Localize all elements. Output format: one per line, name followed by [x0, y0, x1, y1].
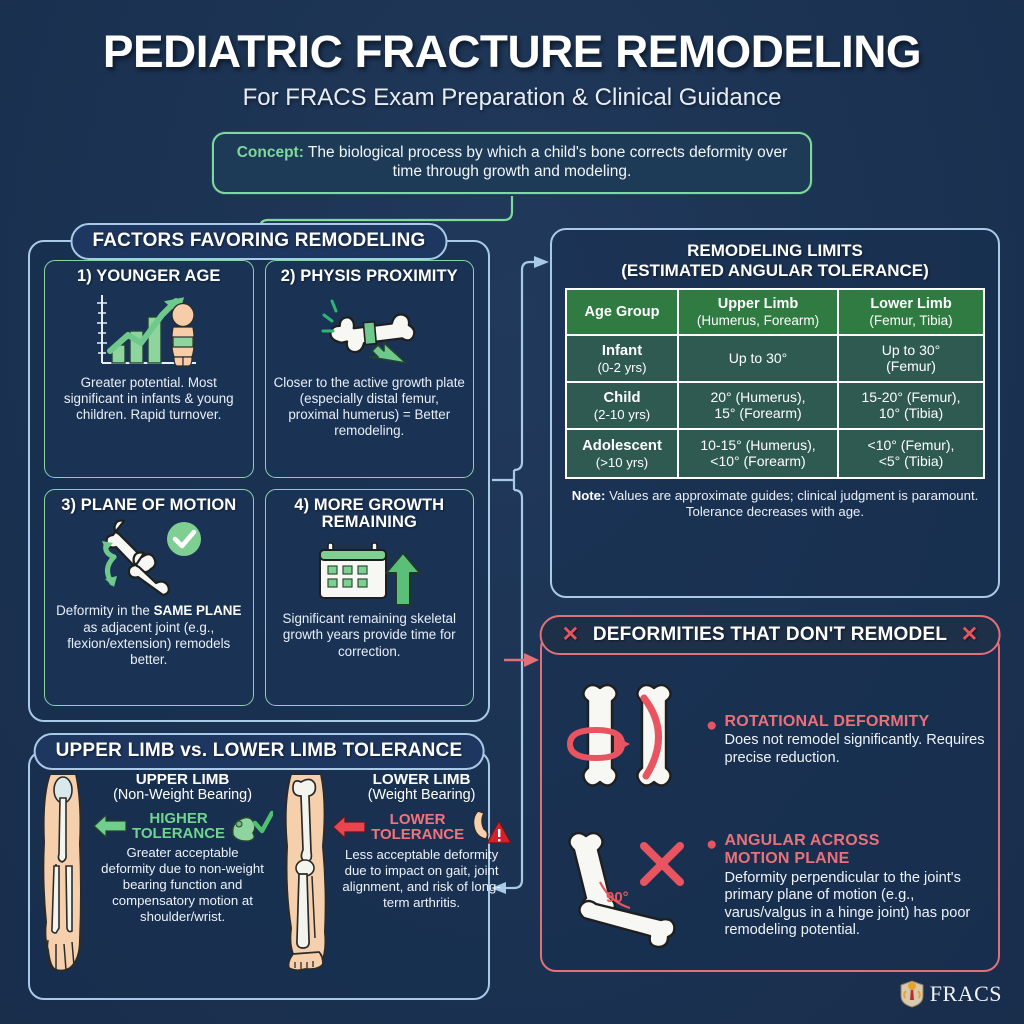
- limb-title-upper: UPPER LIMB (Non-Weight Bearing): [113, 772, 252, 803]
- rotating-bone-icon: [556, 676, 696, 804]
- cell-upper-limb: Up to 30°: [679, 336, 839, 383]
- cell-upper-limb: 10-15° (Humerus),<10° (Forearm): [679, 430, 839, 477]
- factor-card-younger-age[interactable]: 1) YOUNGER AGE: [44, 260, 254, 478]
- concept-label: Concept:: [237, 144, 304, 161]
- page-subtitle: For FRACS Exam Preparation & Clinical Gu…: [0, 84, 1024, 112]
- factors-grid: 1) YOUNGER AGE: [44, 260, 474, 706]
- bullet-icon: ●: [706, 716, 717, 768]
- factor-card-body: Significant remaining skeletal growth ye…: [274, 611, 466, 660]
- concept-body: The biological process by which a child'…: [304, 144, 787, 180]
- fracs-logo-text: FRACS: [930, 981, 1002, 1007]
- flexed-arm-check-icon: [229, 809, 273, 843]
- angulated-bone-90-icon: 90°: [556, 822, 696, 950]
- close-icon: ✕: [961, 623, 979, 646]
- table-header-row: Age Group Upper Limb (Humerus, Forearm) …: [567, 290, 983, 336]
- no-remodel-heading: ✕ DEFORMITIES THAT DON'T REMODEL ✕: [540, 615, 1001, 655]
- table-row: Infant (0-2 yrs) Up to 30° Up to 30°(Fem…: [567, 336, 983, 383]
- no-remodel-item-angular[interactable]: 90° ● ANGULAR ACROSS MOTION PLANE Deform…: [556, 822, 988, 950]
- factor-card-plane-of-motion[interactable]: 3) PLANE OF MOTION Deformity in the S: [44, 489, 254, 707]
- close-icon: ✕: [562, 623, 580, 646]
- factor-card-body: Deformity in the SAME PLANE as adjacent …: [53, 603, 245, 668]
- limb-body-lower: Less acceptable deformity due to impact …: [331, 847, 512, 910]
- factor-card-physis-proximity[interactable]: 2) PHYSIS PROXIMITY: [265, 260, 475, 478]
- no-remodel-text: ● ANGULAR ACROSS MOTION PLANE Deformity …: [706, 832, 988, 940]
- remodeling-limits-table: Age Group Upper Limb (Humerus, Forearm) …: [565, 288, 985, 479]
- cell-age-group: Child (2-10 yrs): [567, 383, 679, 430]
- th-upper-limb: Upper Limb (Humerus, Forearm): [679, 290, 839, 336]
- cell-lower-limb: 15-20° (Femur),10° (Tibia): [839, 383, 983, 430]
- concept-text: Concept: The biological process by which…: [230, 144, 794, 182]
- table-row: Child (2-10 yrs) 20° (Humerus),15° (Fore…: [567, 383, 983, 430]
- no-remodel-body: Does not remodel significantly. Requires…: [724, 732, 988, 767]
- factor-card-title: 1) YOUNGER AGE: [77, 268, 221, 286]
- limb-tolerance-grid: UPPER LIMB (Non-Weight Bearing) HIGHER T…: [40, 772, 478, 988]
- th-lower-limb: Lower Limb (Femur, Tibia): [839, 290, 983, 336]
- factors-panel: FACTORS FAVORING REMODELING 1) YOUNGER A…: [28, 240, 490, 722]
- cell-upper-limb: 20° (Humerus),15° (Forearm): [679, 383, 839, 430]
- limits-title: REMODELING LIMITS (ESTIMATED ANGULAR TOL…: [560, 241, 990, 280]
- tolerance-label-upper: HIGHER TOLERANCE: [132, 811, 225, 842]
- cell-lower-limb: Up to 30°(Femur): [839, 336, 983, 383]
- concept-box: Concept: The biological process by which…: [212, 132, 812, 194]
- no-remodel-item-rotational[interactable]: ● ROTATIONAL DEFORMITY Does not remodel …: [556, 676, 988, 804]
- limb-column-upper[interactable]: UPPER LIMB (Non-Weight Bearing) HIGHER T…: [40, 772, 273, 988]
- limb-column-lower[interactable]: LOWER LIMB (Weight Bearing) LOWER TOLERA…: [279, 772, 512, 988]
- table-body: Infant (0-2 yrs) Up to 30° Up to 30°(Fem…: [567, 336, 983, 477]
- growth-chart-infant-icon: [84, 289, 214, 373]
- no-remodel-title: ROTATIONAL DEFORMITY: [724, 713, 988, 731]
- tolerance-label-lower: LOWER TOLERANCE: [371, 812, 464, 843]
- tolerance-row-upper: HIGHER TOLERANCE: [92, 809, 273, 843]
- remodeling-limits-panel: REMODELING LIMITS (ESTIMATED ANGULAR TOL…: [550, 228, 1000, 598]
- limb-tolerance-panel: UPPER LIMB vs. LOWER LIMB TOLERANCE UPPE…: [28, 750, 490, 1000]
- calendar-up-arrow-icon: [314, 535, 424, 609]
- factor-card-title: 2) PHYSIS PROXIMITY: [281, 268, 458, 286]
- factor-card-title: 3) PLANE OF MOTION: [61, 497, 236, 515]
- factor-card-body: Closer to the active growth plate (espec…: [274, 375, 466, 440]
- fracs-crest-icon: [899, 980, 925, 1008]
- factor-card-title: 4) MORE GROWTH REMAINING: [274, 497, 466, 533]
- bone-growth-plate-icon: [306, 289, 432, 373]
- factor-card-more-growth-remaining[interactable]: 4) MORE GROWTH REMAINING Signif: [265, 489, 475, 707]
- cell-age-group: Infant (0-2 yrs): [567, 336, 679, 383]
- cell-age-group: Adolescent (>10 yrs): [567, 430, 679, 477]
- fracs-logo: FRACS: [899, 980, 1002, 1008]
- no-remodel-body: Deformity perpendicular to the joint's p…: [724, 870, 988, 940]
- joint-check-icon: [84, 517, 214, 601]
- left-arrow-green-icon: [92, 814, 128, 838]
- infographic-canvas: PEDIATRIC FRACTURE REMODELING For FRACS …: [0, 0, 1024, 1024]
- angle-label: 90°: [606, 889, 629, 906]
- limb-tolerance-heading: UPPER LIMB vs. LOWER LIMB TOLERANCE: [34, 733, 485, 770]
- bent-leg-warning-icon: [468, 809, 512, 845]
- limb-body-upper: Greater acceptable deformity due to non-…: [92, 845, 273, 924]
- no-remodel-text: ● ROTATIONAL DEFORMITY Does not remodel …: [706, 713, 988, 768]
- page-title: PEDIATRIC FRACTURE REMODELING: [0, 26, 1024, 78]
- no-remodel-title: ANGULAR ACROSS MOTION PLANE: [724, 832, 988, 868]
- bullet-icon: ●: [706, 835, 717, 940]
- factor-card-body: Greater potential. Most significant in i…: [53, 375, 245, 424]
- limb-title-lower: LOWER LIMB (Weight Bearing): [368, 772, 476, 803]
- cell-lower-limb: <10° (Femur),<5° (Tibia): [839, 430, 983, 477]
- upper-limb-arm-illustration: [36, 772, 92, 972]
- lower-limb-leg-illustration: [279, 772, 335, 972]
- tolerance-row-lower: LOWER TOLERANCE: [331, 809, 512, 845]
- table-row: Adolescent (>10 yrs) 10-15° (Humerus),<1…: [567, 430, 983, 477]
- factors-heading: FACTORS FAVORING REMODELING: [71, 223, 448, 260]
- th-age-group: Age Group: [567, 290, 679, 336]
- left-arrow-red-icon: [331, 815, 367, 839]
- limits-note: Note: Values are approximate guides; cli…: [568, 488, 982, 520]
- no-remodel-panel: ✕ DEFORMITIES THAT DON'T REMODEL ✕ ● ROT…: [540, 632, 1000, 972]
